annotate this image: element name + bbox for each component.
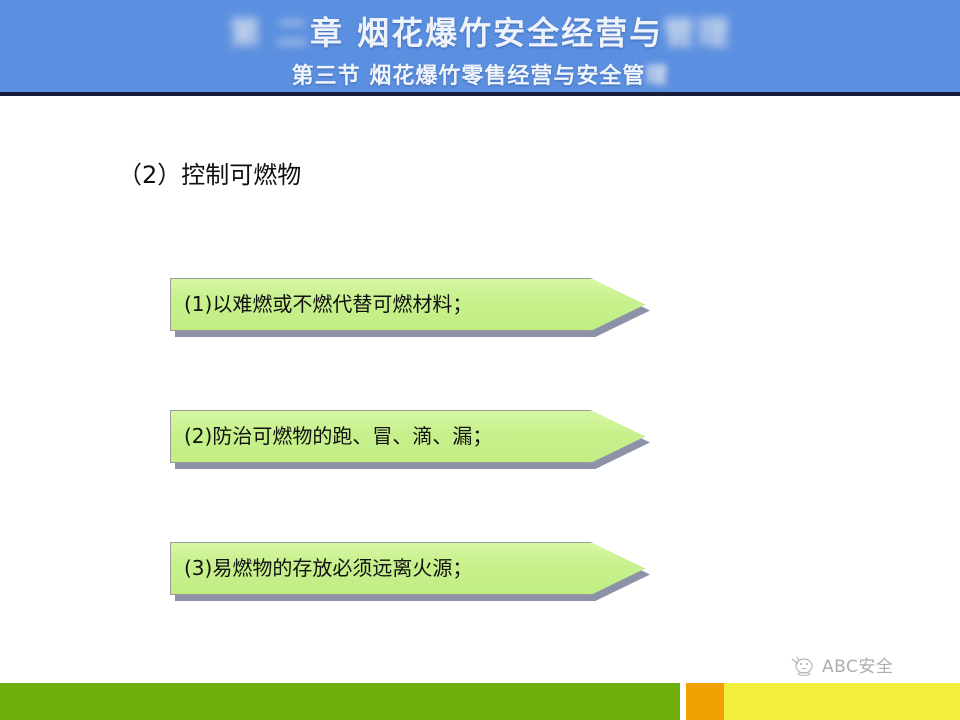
footer-bar-green xyxy=(0,683,680,720)
arrow-banner: (1)以难燃或不燃代替可燃材料； xyxy=(170,278,645,331)
footer-bar-yellow xyxy=(724,683,960,720)
header-title: 第 二章 烟花爆竹安全经营与管理 xyxy=(0,8,960,54)
arrow-banner: (3)易燃物的存放必须远离火源； xyxy=(170,542,645,595)
header-title-obscured-suffix: 管理 xyxy=(663,14,731,52)
section-heading: （2）控制可燃物 xyxy=(118,155,301,190)
watermark: ABC安全 xyxy=(790,652,893,677)
watermark-label: ABC安全 xyxy=(822,652,893,677)
footer-bar-orange xyxy=(686,683,724,720)
presentation-slide: 第 二章 烟花爆竹安全经营与管理 第三节 烟花爆竹零售经营与安全管理 （2）控制… xyxy=(0,0,960,720)
header-subtitle-obscured-suffix: 理 xyxy=(645,64,668,89)
arrow-banner: (2)防治可燃物的跑、冒、滴、漏； xyxy=(170,410,645,463)
slide-header: 第 二章 烟花爆竹安全经营与管理 第三节 烟花爆竹零售经营与安全管理 xyxy=(0,0,960,96)
header-subtitle-text: 第三节 烟花爆竹零售经营与安全管 xyxy=(292,64,646,89)
arrow-banner-label: (3)易燃物的存放必须远离火源； xyxy=(184,542,472,595)
arrow-banner-label: (1)以难燃或不燃代替可燃材料； xyxy=(184,278,472,331)
header-subtitle: 第三节 烟花爆竹零售经营与安全管理 xyxy=(0,58,960,90)
panda-mascot-icon xyxy=(790,654,816,676)
header-title-obscured-prefix: 第 二 xyxy=(229,14,310,52)
header-title-text: 章 烟花爆竹安全经营与 xyxy=(310,14,663,52)
arrow-banner-label: (2)防治可燃物的跑、冒、滴、漏； xyxy=(184,410,492,463)
